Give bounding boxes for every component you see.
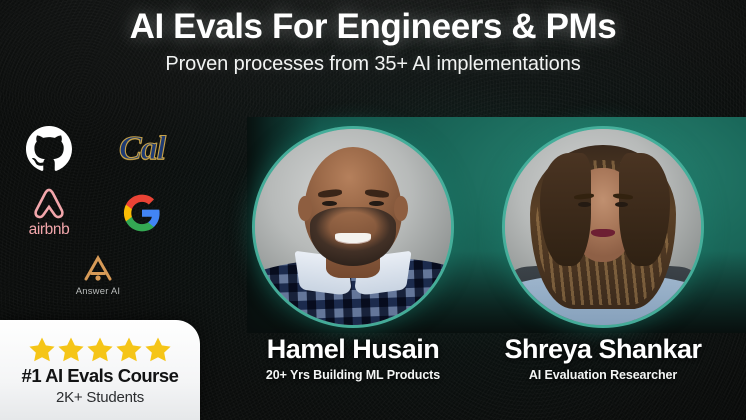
logo-answer-ai: Answer AI	[76, 253, 121, 297]
logo-airbnb: airbnb	[18, 186, 80, 239]
photo-ear-left	[298, 196, 312, 221]
logo-wall: Cal airbnb	[18, 126, 178, 297]
speaker-name: Shreya Shankar	[481, 335, 725, 363]
star-icon	[86, 336, 114, 363]
airbnb-icon	[30, 186, 68, 222]
star-icon	[115, 336, 143, 363]
speaker-name: Hamel Husain	[231, 335, 475, 363]
photo-hair-front-right	[619, 153, 670, 267]
rating-badge: #1 AI Evals Course 2K+ Students	[0, 320, 200, 420]
star-rating	[28, 336, 172, 363]
speaker-hamel-husain: Hamel Husain 20+ Yrs Building ML Product…	[231, 335, 475, 382]
star-icon	[57, 336, 85, 363]
github-icon	[26, 126, 72, 172]
speaker-role: 20+ Yrs Building ML Products	[231, 368, 475, 382]
star-icon	[28, 336, 56, 363]
answer-ai-icon	[81, 253, 115, 285]
answer-ai-caption: Answer AI	[76, 286, 121, 297]
speaker-role: AI Evaluation Researcher	[481, 368, 725, 382]
logo-github	[18, 126, 80, 172]
photo-lips	[591, 229, 615, 237]
promo-poster: AI Evals For Engineers & PMs Proven proc…	[0, 0, 746, 420]
photo-smile	[335, 233, 370, 244]
header: AI Evals For Engineers & PMs Proven proc…	[0, 8, 746, 76]
photo-ear-right	[394, 196, 408, 221]
logo-google	[106, 193, 178, 233]
avatar-shreya-shankar	[505, 129, 701, 325]
badge-title: #1 AI Evals Course	[22, 366, 179, 386]
avatar-hamel-husain	[255, 129, 451, 325]
photo-hair-front-left	[540, 153, 591, 267]
speaker-shreya-shankar: Shreya Shankar AI Evaluation Researcher	[481, 335, 725, 382]
star-icon	[144, 336, 172, 363]
badge-subtitle: 2K+ Students	[56, 389, 144, 406]
airbnb-wordmark: airbnb	[29, 221, 70, 239]
cal-wordmark: Cal	[119, 132, 165, 166]
page-title: AI Evals For Engineers & PMs	[0, 8, 746, 46]
page-subtitle: Proven processes from 35+ AI implementat…	[0, 53, 746, 76]
portrait-photo	[505, 129, 701, 325]
portrait-photo	[255, 129, 451, 325]
google-icon	[122, 193, 162, 233]
logo-cal: Cal	[106, 132, 178, 166]
